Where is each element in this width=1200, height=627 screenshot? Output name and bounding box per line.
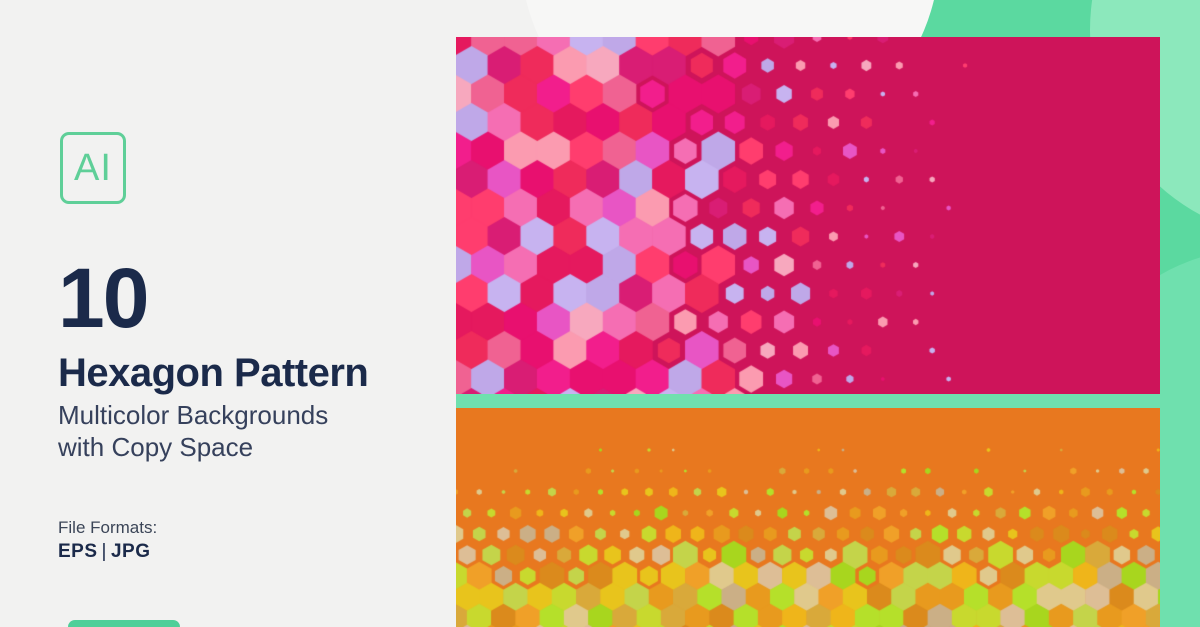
page-subtitle: Multicolor Backgrounds with Copy Space [58, 400, 448, 463]
file-formats-value: EPS|JPG [58, 541, 151, 563]
page-subtitle-line-1: Multicolor Backgrounds [58, 400, 448, 432]
ai-format-badge-label: AI [74, 149, 112, 187]
file-format-separator: | [98, 541, 111, 562]
file-format-jpg: JPG [111, 541, 151, 562]
page-subtitle-line-2: with Copy Space [58, 432, 448, 464]
file-formats-label: File Formats: [58, 518, 157, 538]
cta-button[interactable] [68, 620, 180, 627]
info-column: AI 10 Hexagon Pattern Multicolor Backgro… [0, 0, 456, 627]
hexagon-pattern-orange-canvas [455, 408, 1160, 627]
hexagon-pattern-pink-canvas [455, 37, 1160, 394]
hexagon-preview-pink [455, 37, 1160, 394]
promo-banner: AI 10 Hexagon Pattern Multicolor Backgro… [0, 0, 1200, 627]
hexagon-preview-orange [455, 408, 1160, 627]
item-count: 10 [58, 256, 147, 340]
file-format-eps: EPS [58, 541, 98, 562]
page-title: Hexagon Pattern [58, 353, 368, 393]
ai-format-badge: AI [60, 132, 126, 204]
